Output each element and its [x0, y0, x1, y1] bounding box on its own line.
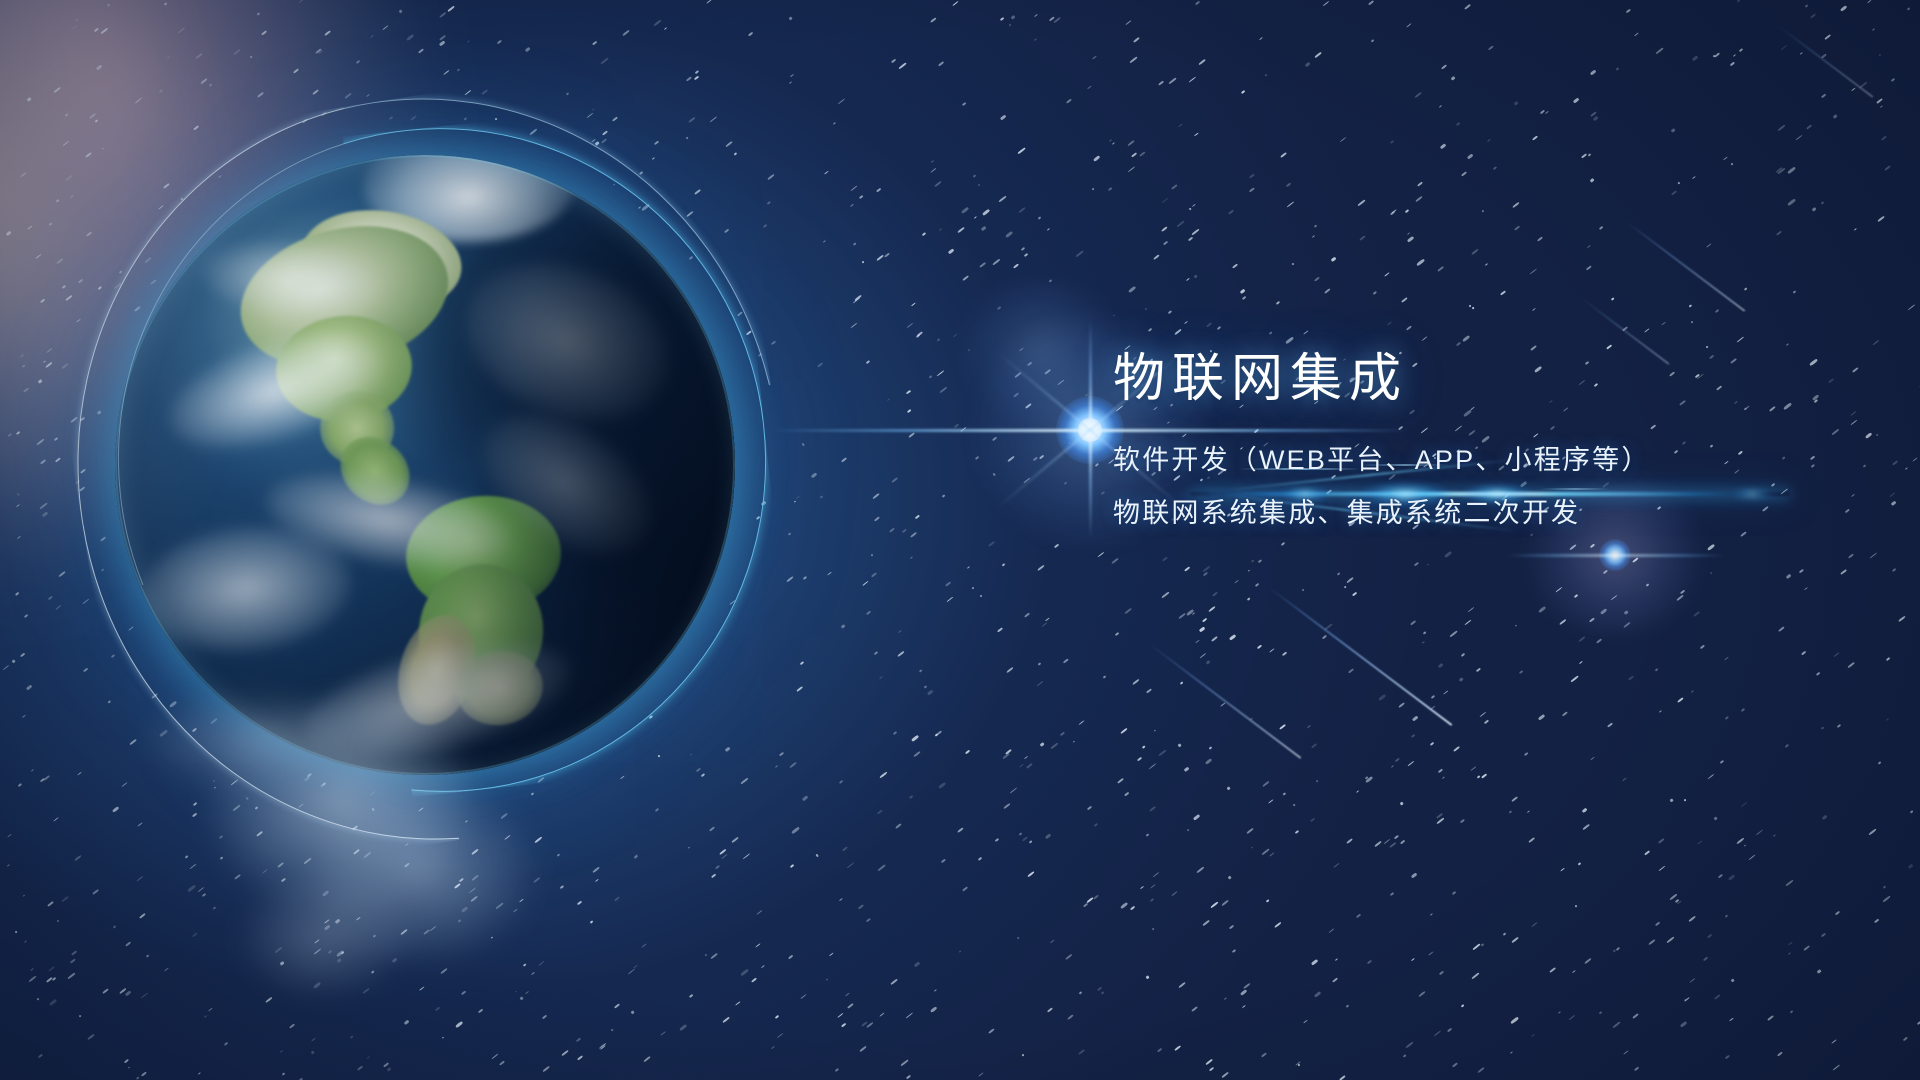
- banner-stage: 物联网集成 软件开发（WEB平台、APP、小程序等） 物联网系统集成、集成系统二…: [0, 0, 1920, 1080]
- vignette-overlay: [0, 0, 1920, 1080]
